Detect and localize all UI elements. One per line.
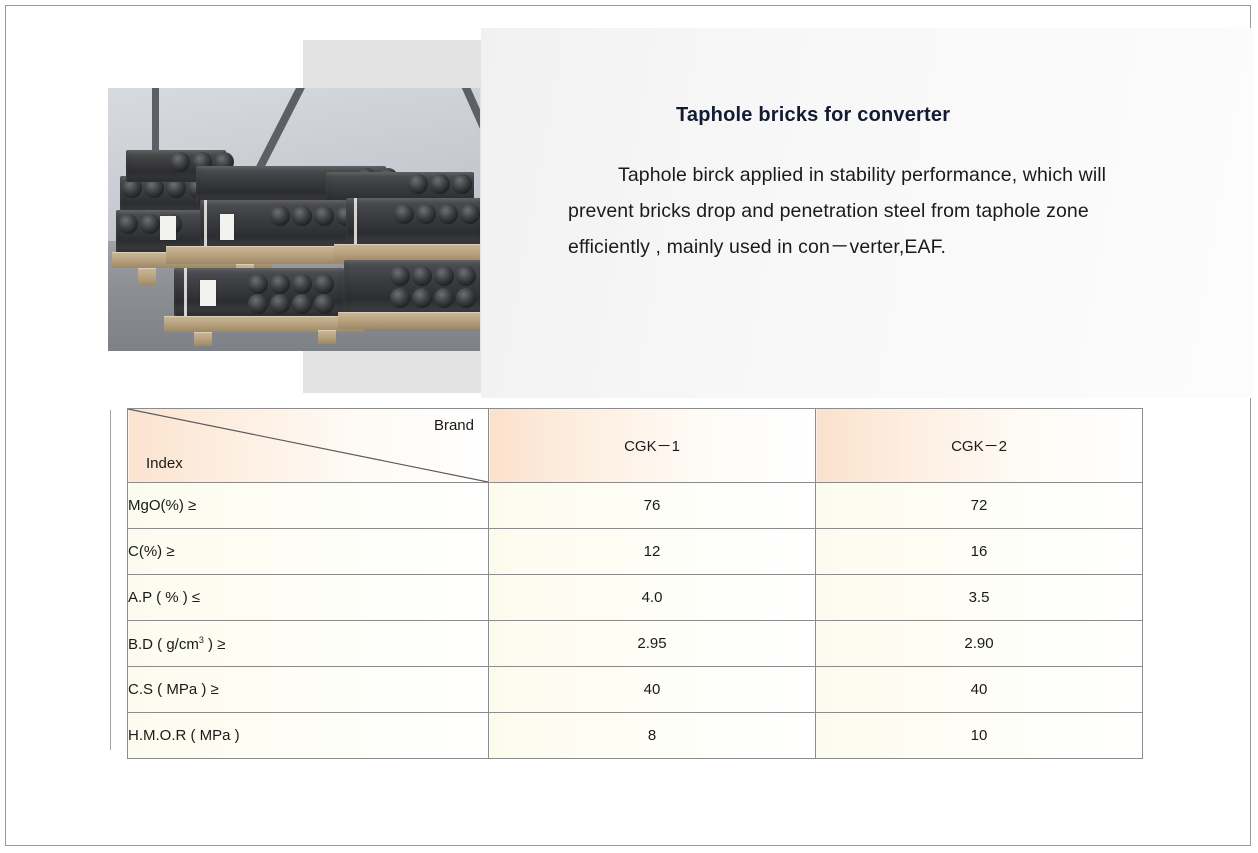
brick-tube: [248, 274, 268, 294]
specification-table: Brand Index CGK－1 CGK－2 MgO(%) ≥ 76 72 C…: [127, 408, 1143, 759]
cell-value: 4.0: [489, 575, 816, 621]
cell-value: 16: [816, 529, 1143, 575]
brick-tube: [292, 206, 312, 226]
row-label-post: ) ≥: [204, 636, 226, 653]
brick-tube-row: [408, 174, 472, 194]
brick-tube: [452, 174, 472, 194]
table-row: C.S ( MPa ) ≥ 40 40: [128, 667, 1143, 713]
brick-tube: [434, 288, 454, 308]
brick-tube-row: [270, 206, 356, 226]
brick-tube: [434, 266, 454, 286]
shipping-label: [160, 216, 176, 240]
brick-tube-row: [394, 204, 480, 224]
table-row: B.D ( g/cm3 ) ≥ 2.95 2.90: [128, 621, 1143, 667]
cell-value: 40: [489, 667, 816, 713]
corner-header-cell: Brand Index: [128, 409, 489, 483]
brick-tube: [430, 174, 450, 194]
spec-table-container: Brand Index CGK－1 CGK－2 MgO(%) ≥ 76 72 C…: [110, 408, 1145, 752]
page-canvas: Taphole bricks for converter Taphole bir…: [0, 0, 1258, 853]
table-row: A.P ( % ) ≤ 4.0 3.5: [128, 575, 1143, 621]
brick-tube: [248, 294, 268, 314]
brick-tube: [460, 204, 480, 224]
strapping-band: [354, 198, 357, 248]
cell-value: 72: [816, 483, 1143, 529]
page-title: Taphole bricks for converter: [676, 104, 1128, 127]
row-label: H.M.O.R ( MPa ): [128, 713, 489, 759]
brick-tube-row: [248, 294, 334, 314]
shipping-label: [220, 214, 234, 240]
brick-tube: [416, 204, 436, 224]
brick-tube: [390, 288, 410, 308]
brick-tube: [292, 294, 312, 314]
brick-tube: [140, 214, 160, 234]
wooden-pallet: [194, 332, 212, 346]
brick-tube: [270, 274, 290, 294]
brick-tube: [314, 274, 334, 294]
brick-tube: [456, 266, 476, 286]
cell-value: 10: [816, 713, 1143, 759]
cell-value: 8: [489, 713, 816, 759]
corner-brand-label: Brand: [434, 417, 474, 434]
strapping-band: [184, 268, 187, 316]
wooden-pallet: [318, 330, 336, 344]
description-text: Taphole birck applied in stability perfo…: [568, 164, 1106, 258]
cell-value: 2.90: [816, 621, 1143, 667]
wooden-pallet: [138, 268, 156, 286]
brick-tube-row: [390, 266, 476, 286]
brick-tube: [270, 294, 290, 314]
shipping-label: [200, 280, 216, 306]
product-photo: [108, 88, 480, 351]
brick-tube: [314, 206, 334, 226]
brick-tube: [170, 152, 190, 172]
column-header-cgk-2: CGK－2: [816, 409, 1143, 483]
brick-tube: [390, 266, 410, 286]
table-row: MgO(%) ≥ 76 72: [128, 483, 1143, 529]
table-row: H.M.O.R ( MPa ) 8 10: [128, 713, 1143, 759]
hero-section: Taphole bricks for converter Taphole bir…: [0, 0, 1258, 400]
brick-tube: [412, 288, 432, 308]
brick-tube: [314, 294, 334, 314]
brick-tube: [292, 274, 312, 294]
brick-tube: [456, 288, 476, 308]
column-header-cgk-1: CGK－1: [489, 409, 816, 483]
table-header-row: Brand Index CGK－1 CGK－2: [128, 409, 1143, 483]
table-left-rule: [110, 410, 111, 750]
brick-tube: [394, 204, 414, 224]
strapping-band: [204, 200, 207, 252]
hero-text-block: Taphole bricks for converter Taphole bir…: [568, 104, 1128, 265]
cell-value: 40: [816, 667, 1143, 713]
brick-tube-row: [248, 274, 334, 294]
brick-tube-row: [390, 288, 476, 308]
cell-value: 12: [489, 529, 816, 575]
row-label-pre: B.D ( g/cm: [128, 636, 199, 653]
row-label: C(%) ≥: [128, 529, 489, 575]
cell-value: 3.5: [816, 575, 1143, 621]
row-label: A.P ( % ) ≤: [128, 575, 489, 621]
row-label: MgO(%) ≥: [128, 483, 489, 529]
brick-tube: [408, 174, 428, 194]
corner-index-label: Index: [146, 455, 183, 472]
brick-tube: [270, 206, 290, 226]
cell-value: 2.95: [489, 621, 816, 667]
description-paragraph: Taphole birck applied in stability perfo…: [568, 157, 1128, 265]
brick-tube: [438, 204, 458, 224]
table-row: C(%) ≥ 12 16: [128, 529, 1143, 575]
row-label: B.D ( g/cm3 ) ≥: [128, 621, 489, 667]
wooden-pallet: [338, 312, 480, 329]
brick-tube: [118, 214, 138, 234]
row-label: C.S ( MPa ) ≥: [128, 667, 489, 713]
cell-value: 76: [489, 483, 816, 529]
brick-tube: [412, 266, 432, 286]
